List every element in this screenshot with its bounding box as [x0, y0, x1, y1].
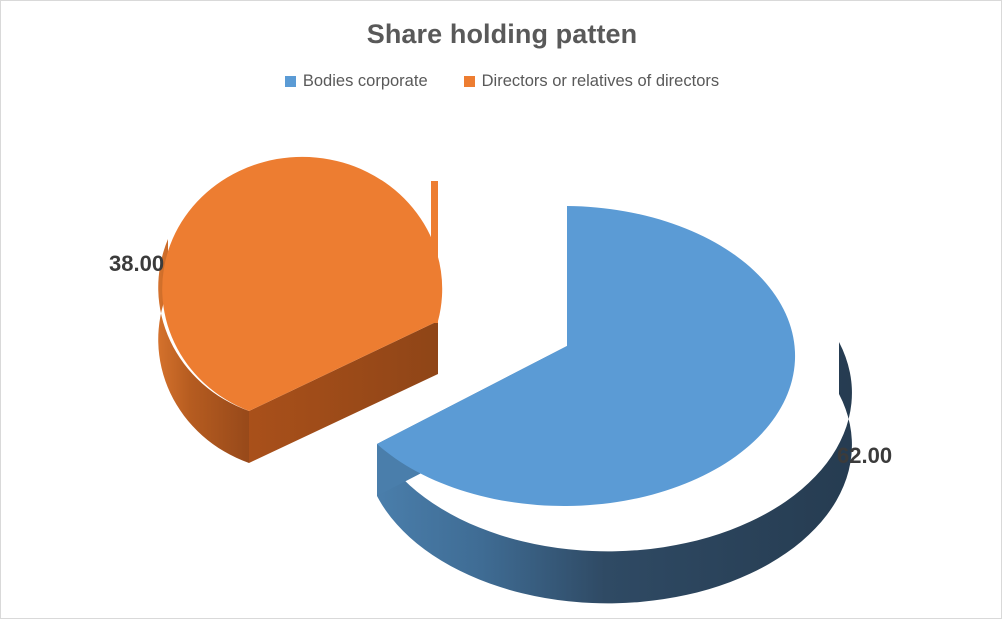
blue-slice-top — [377, 206, 795, 506]
data-label-bodies-corporate: 62.00 — [837, 443, 892, 469]
orange-slice-top-edge — [431, 181, 438, 323]
bodies-corporate-slice[interactable] — [377, 206, 852, 603]
directors-or-relatives-slice[interactable] — [158, 157, 442, 463]
pie-chart-graphic — [1, 1, 1002, 619]
data-label-directors-or-relatives: 38.00 — [109, 251, 164, 277]
chart-canvas: Share holding patten Bodies corporate Di… — [0, 0, 1002, 619]
